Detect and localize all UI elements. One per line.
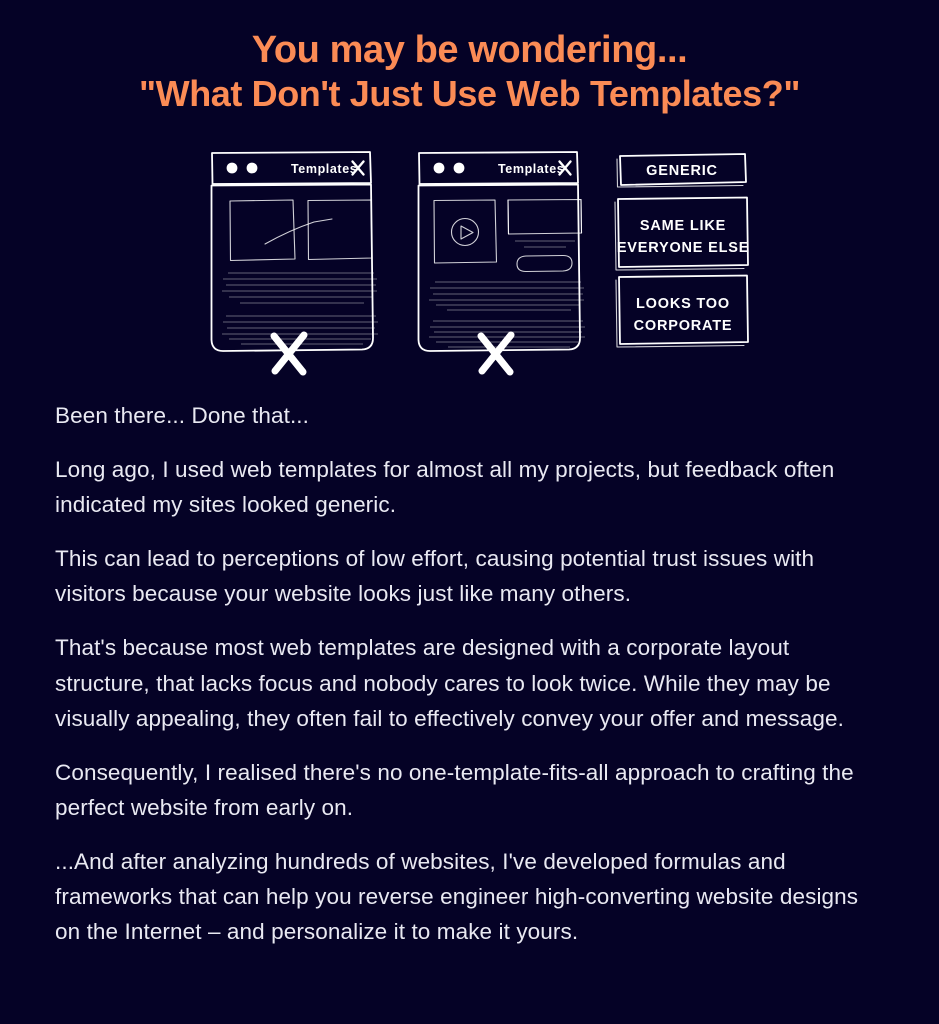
window-1-title: Templates — [291, 162, 357, 176]
window-dot-1 — [227, 163, 238, 174]
label-box-looks-too-corporate: LOOKS TOO CORPORATE — [616, 276, 748, 348]
label-corporate-line-1: LOOKS TOO — [636, 296, 730, 312]
window-2-text-block-a — [429, 282, 584, 310]
window-2-caption — [515, 241, 575, 247]
templates-illustration: .stroke { fill:none; stroke:#FFFFFF; str… — [196, 142, 756, 382]
label-corporate-line-2: CORPORATE — [634, 318, 733, 334]
label-same-like-line-2: EVERYONE ELSE — [617, 240, 749, 256]
promo-page: You may be wondering... "What Don't Just… — [0, 0, 939, 1024]
window-dot-1 — [434, 163, 445, 174]
body-copy: Been there... Done that... Long ago, I u… — [55, 398, 885, 949]
window-1-text-block-a — [222, 273, 377, 303]
window-2-cross-out-icon — [481, 335, 511, 372]
label-box-generic: GENERIC — [617, 154, 746, 187]
window-2-title: Templates — [498, 162, 564, 176]
window-1-cross-out-icon — [274, 335, 304, 372]
body-paragraph-6: ...And after analyzing hundreds of websi… — [55, 844, 885, 949]
template-window-1: Templates — [212, 152, 379, 372]
body-paragraph-5: Consequently, I realised there's no one-… — [55, 755, 885, 825]
play-button-icon — [452, 219, 479, 246]
body-paragraph-4: That's because most web templates are de… — [55, 630, 885, 735]
body-paragraph-3: This can lead to perceptions of low effo… — [55, 541, 885, 611]
page-title: You may be wondering... "What Don't Just… — [0, 28, 939, 115]
label-box-same-like-everyone-else: SAME LIKE EVERYONE ELSE — [615, 198, 749, 271]
template-window-2: Templates — [419, 152, 586, 372]
window-dot-2 — [454, 163, 465, 174]
label-generic-text: GENERIC — [646, 163, 718, 179]
heading-line-2: "What Don't Just Use Web Templates?" — [0, 73, 939, 115]
label-same-like-line-1: SAME LIKE — [640, 218, 726, 234]
body-paragraph-2: Long ago, I used web templates for almos… — [55, 452, 885, 522]
heading-line-1: You may be wondering... — [0, 28, 939, 73]
body-paragraph-1: Been there... Done that... — [55, 398, 885, 433]
window-dot-2 — [247, 163, 258, 174]
